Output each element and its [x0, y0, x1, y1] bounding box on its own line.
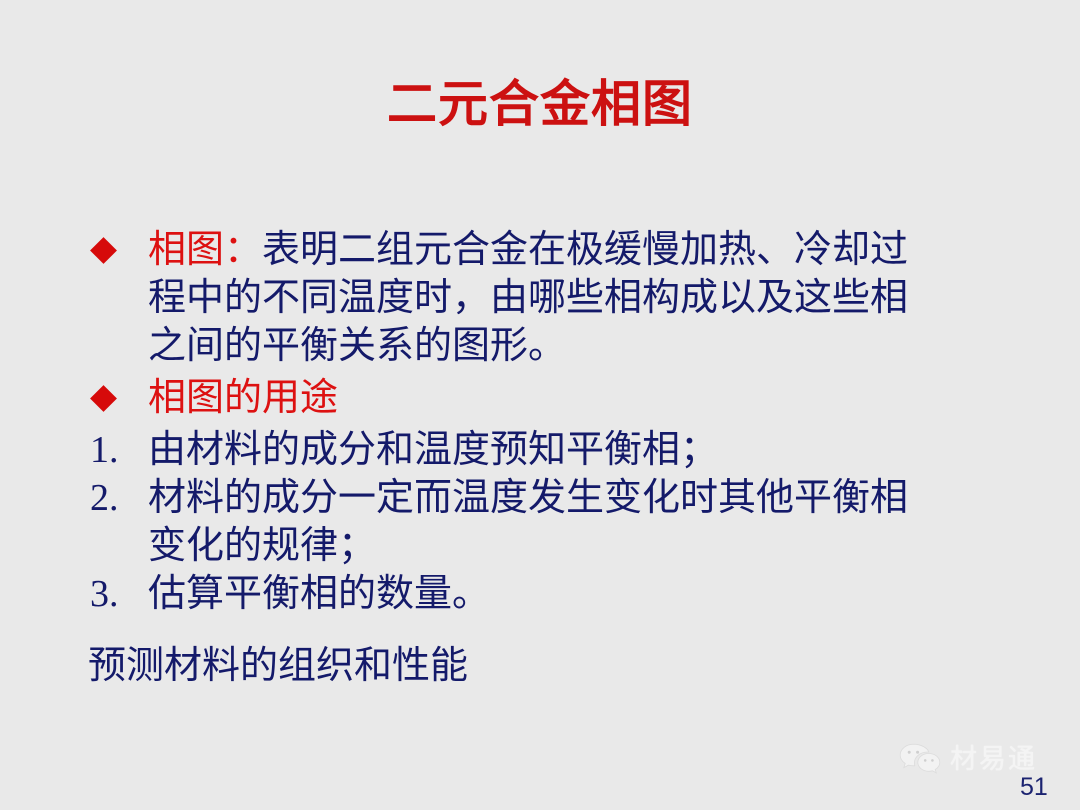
- diamond-bullet-icon: [86, 226, 148, 274]
- closing-statement: 预测材料的组织和性能: [88, 642, 1016, 690]
- page-number: 51: [1020, 773, 1048, 801]
- list-item-text: 估算平衡相的数量。: [148, 570, 1016, 618]
- slide-canvas: 二元合金相图 相图：表明二组元合金在极缓慢加热、冷却过 程中的不同温度时，由哪些…: [0, 0, 1080, 810]
- watermark: 材易通: [898, 742, 1037, 776]
- list-item-number: 3.: [86, 570, 148, 618]
- page-title: 二元合金相图: [0, 76, 1080, 132]
- list-item-number: 2.: [86, 474, 148, 522]
- bullet-item-usage-heading: 相图的用途: [86, 374, 1016, 422]
- list-item: 2. 材料的成分一定而温度发生变化时其他平衡相 变化的规律；: [86, 474, 1016, 570]
- list-item-text: 由材料的成分和温度预知平衡相；: [148, 426, 1016, 474]
- list-item-line-1: 估算平衡相的数量。: [148, 570, 1016, 618]
- definition-paragraph: 相图：表明二组元合金在极缓慢加热、冷却过 程中的不同温度时，由哪些相构成以及这些…: [148, 226, 1016, 370]
- definition-lead-label: 相图：: [148, 229, 262, 271]
- usage-heading-text: 相图的用途: [148, 374, 1016, 422]
- slide-body: 相图：表明二组元合金在极缓慢加热、冷却过 程中的不同温度时，由哪些相构成以及这些…: [86, 226, 1016, 690]
- definition-line-1: 表明二组元合金在极缓慢加热、冷却过: [262, 229, 908, 271]
- wechat-icon: [898, 742, 942, 776]
- list-item-text: 材料的成分一定而温度发生变化时其他平衡相 变化的规律；: [148, 474, 1016, 570]
- list-item-line-1: 材料的成分一定而温度发生变化时其他平衡相: [148, 474, 1016, 522]
- list-item: 3. 估算平衡相的数量。: [86, 570, 1016, 618]
- diamond-bullet-icon: [86, 374, 148, 422]
- bullet-item-definition: 相图：表明二组元合金在极缓慢加热、冷却过 程中的不同温度时，由哪些相构成以及这些…: [86, 226, 1016, 370]
- definition-line-3: 之间的平衡关系的图形。: [148, 322, 1016, 370]
- list-item-line-1: 由材料的成分和温度预知平衡相；: [148, 426, 1016, 474]
- list-item-line-2: 变化的规律；: [148, 522, 1016, 570]
- watermark-label: 材易通: [950, 744, 1037, 774]
- list-item: 1. 由材料的成分和温度预知平衡相；: [86, 426, 1016, 474]
- list-item-number: 1.: [86, 426, 148, 474]
- definition-line-2: 程中的不同温度时，由哪些相构成以及这些相: [148, 274, 1016, 322]
